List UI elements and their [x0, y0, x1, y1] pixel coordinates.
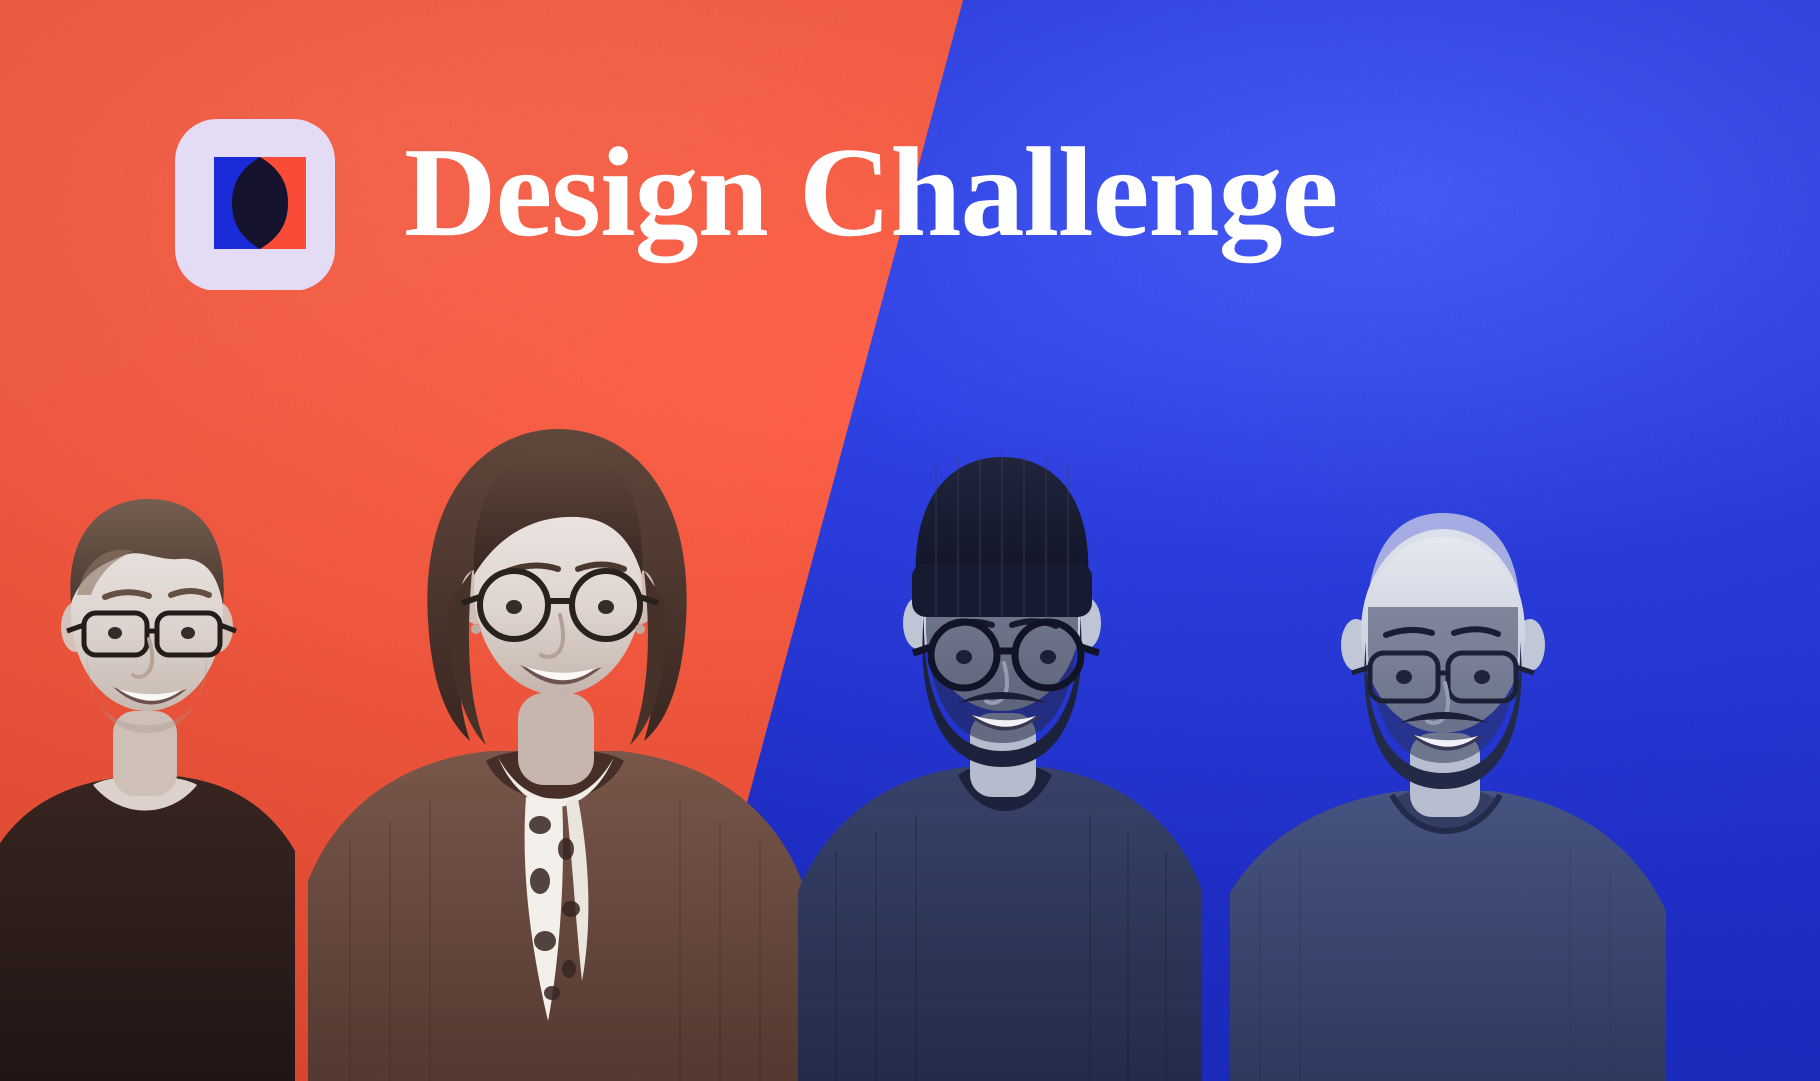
- design-challenge-logo[interactable]: [164, 110, 344, 290]
- person-photo-4: [1230, 391, 1710, 1081]
- design-challenge-banner: Design Challenge: [0, 0, 1820, 1081]
- person-photo-3: [790, 331, 1210, 1081]
- person-photo-2: [290, 321, 820, 1081]
- page-title: Design Challenge: [404, 128, 1337, 256]
